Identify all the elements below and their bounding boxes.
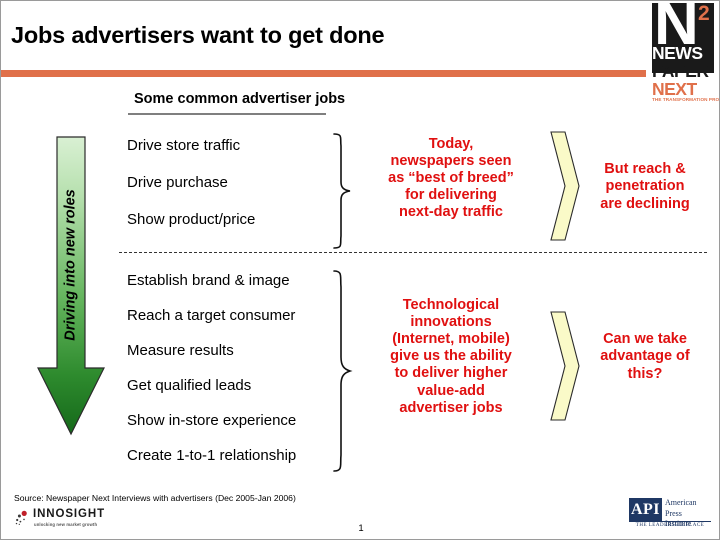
conclusion-text-group-1: But reach & penetration are declining bbox=[579, 161, 711, 213]
insight-line: innovations bbox=[361, 314, 541, 331]
conclusion-line: penetration bbox=[579, 178, 711, 195]
yellow-chevron-arrow-1 bbox=[550, 131, 580, 241]
page-title: Jobs advertisers want to get done bbox=[11, 23, 631, 49]
list-item: Establish brand & image bbox=[127, 273, 342, 288]
section-dashed-divider bbox=[119, 252, 707, 253]
insight-text-group-2: Technological innovations (Internet, mob… bbox=[361, 297, 541, 417]
list-item: Get qualified leads bbox=[127, 378, 342, 393]
logo-tagline: THE TRANSFORMATION PROJECT bbox=[652, 97, 719, 102]
yellow-chevron-arrow-2 bbox=[550, 311, 580, 421]
insight-line: newspapers seen bbox=[361, 153, 541, 170]
job-list-group-1: Drive store traffic Drive purchase Show … bbox=[127, 138, 332, 249]
title-divider-rule bbox=[1, 70, 720, 77]
logo-word-news: NEWS bbox=[652, 45, 703, 63]
insight-line: give us the ability bbox=[361, 348, 541, 365]
chevron-shape bbox=[550, 131, 580, 241]
insight-line: Technological bbox=[361, 297, 541, 314]
arrow-label-text: Driving into new roles bbox=[63, 189, 79, 340]
section-header-underline bbox=[128, 113, 326, 115]
insight-line: as “best of breed” bbox=[361, 170, 541, 187]
conclusion-text-group-2: Can we take advantage of this? bbox=[579, 331, 711, 383]
list-item: Drive store traffic bbox=[127, 138, 332, 153]
conclusion-line: But reach & bbox=[579, 161, 711, 178]
conclusion-line: this? bbox=[579, 366, 711, 383]
curly-brace-group-2 bbox=[331, 269, 357, 475]
list-item: Drive purchase bbox=[127, 175, 332, 190]
list-item: Show in-store experience bbox=[127, 413, 342, 428]
insight-line: for delivering bbox=[361, 187, 541, 204]
insight-line: Today, bbox=[361, 136, 541, 153]
chevron-shape bbox=[550, 311, 580, 421]
innosight-wordmark: INNOSIGHT bbox=[33, 509, 105, 521]
api-divider-rule bbox=[629, 521, 711, 522]
insight-line: advertiser jobs bbox=[361, 400, 541, 417]
job-list-group-2: Establish brand & image Reach a target c… bbox=[127, 273, 342, 483]
insight-line: (Internet, mobile) bbox=[361, 331, 541, 348]
api-logo: API American Press Institute THE LEADERS… bbox=[629, 498, 711, 530]
api-name-line: Press bbox=[665, 509, 697, 520]
logo-word-paper: PAPER bbox=[652, 63, 709, 81]
brace-shape bbox=[331, 132, 357, 250]
api-tagline: THE LEADERSHIP PLACE bbox=[629, 523, 711, 528]
insight-line: to deliver higher bbox=[361, 365, 541, 382]
driving-into-new-roles-arrow: Driving into new roles bbox=[37, 136, 105, 436]
newspaper-next-logo: N 2 NEWS PAPER NEXT THE TRANSFORMATION P… bbox=[646, 1, 719, 109]
insight-line: value-add bbox=[361, 383, 541, 400]
section-header-label: Some common advertiser jobs bbox=[134, 91, 345, 107]
arrow-label-container: Driving into new roles bbox=[37, 136, 105, 394]
innosight-dots-icon bbox=[15, 510, 31, 526]
conclusion-line: advantage of bbox=[579, 348, 711, 365]
api-name-line: American bbox=[665, 498, 697, 509]
slide-canvas: Jobs advertisers want to get done N 2 NE… bbox=[0, 0, 720, 540]
list-item: Reach a target consumer bbox=[127, 308, 342, 323]
list-item: Create 1-to-1 relationship bbox=[127, 448, 342, 463]
insight-text-group-1: Today, newspapers seen as “best of breed… bbox=[361, 136, 541, 222]
source-note: Source: Newspaper Next Interviews with a… bbox=[14, 493, 296, 503]
innosight-tagline: unlocking new market growth bbox=[34, 522, 97, 527]
brace-shape bbox=[331, 269, 357, 475]
api-abbreviation: API bbox=[629, 498, 662, 521]
innosight-logo: INNOSIGHT unlocking new market growth bbox=[15, 507, 121, 531]
insight-line: next-day traffic bbox=[361, 204, 541, 221]
logo-superscript-2: 2 bbox=[698, 3, 710, 24]
curly-brace-group-1 bbox=[331, 132, 357, 250]
list-item: Show product/price bbox=[127, 212, 332, 227]
logo-word-next: NEXT bbox=[652, 81, 697, 99]
list-item: Measure results bbox=[127, 343, 342, 358]
conclusion-line: Can we take bbox=[579, 331, 711, 348]
conclusion-line: are declining bbox=[579, 196, 711, 213]
